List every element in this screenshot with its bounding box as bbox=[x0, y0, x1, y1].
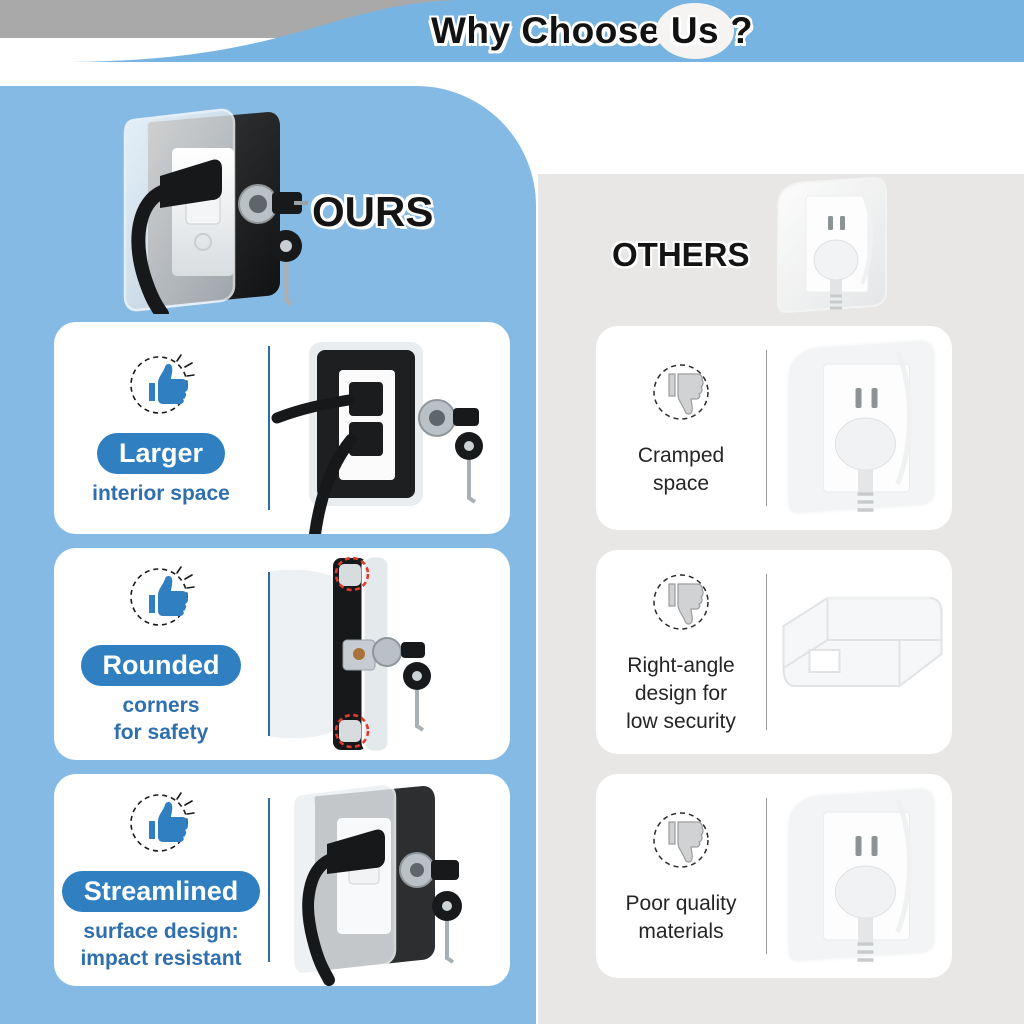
thumbs-up-icon bbox=[125, 561, 197, 633]
ours-feature-card[interactable]: Larger interior space bbox=[54, 322, 510, 534]
ours-feature-pill: Streamlined bbox=[62, 871, 261, 912]
ours-label: OURS bbox=[312, 188, 433, 236]
ours-feature-image bbox=[270, 548, 510, 760]
others-feature-line: low security bbox=[626, 708, 736, 736]
others-feature-image bbox=[767, 550, 952, 754]
page-title: Why Choose Us ? bbox=[0, 0, 1024, 62]
page-title-part1: Why Choose bbox=[431, 10, 671, 52]
others-feature-line: materials bbox=[638, 918, 723, 946]
ours-feature-text: Streamlined surface design: impact resis… bbox=[54, 774, 268, 986]
ours-feature-text: Rounded corners for safety bbox=[54, 548, 268, 760]
others-feature-line: Cramped bbox=[638, 442, 724, 470]
thumbs-down-icon bbox=[645, 358, 717, 430]
ours-feature-subline: for safety bbox=[114, 720, 209, 747]
others-feature-image bbox=[767, 774, 952, 978]
ours-feature-pill: Rounded bbox=[81, 645, 242, 686]
others-feature-card[interactable]: Cramped space bbox=[596, 326, 952, 530]
ours-feature-pill: Larger bbox=[97, 433, 225, 474]
thumbs-up-icon bbox=[125, 787, 197, 859]
others-feature-text: Right-angle design for low security bbox=[596, 550, 766, 754]
ours-feature-image bbox=[270, 774, 510, 986]
others-feature-line: design for bbox=[635, 680, 727, 708]
page-title-highlight: Us bbox=[671, 10, 719, 51]
thumbs-up-icon bbox=[125, 349, 197, 421]
ours-feature-subline: surface design: bbox=[83, 919, 238, 946]
others-feature-text: Cramped space bbox=[596, 326, 766, 530]
others-label: OTHERS bbox=[612, 236, 750, 274]
page-title-highlight-wrap: Us bbox=[671, 10, 719, 52]
thumbs-down-icon bbox=[645, 806, 717, 878]
thumbs-down-icon bbox=[645, 568, 717, 640]
ours-feature-text: Larger interior space bbox=[54, 322, 268, 534]
others-feature-line: Poor quality bbox=[626, 890, 737, 918]
ours-hero-image bbox=[100, 96, 315, 314]
others-feature-line: space bbox=[653, 470, 709, 498]
others-feature-card[interactable]: Poor quality materials bbox=[596, 774, 952, 978]
others-feature-text: Poor quality materials bbox=[596, 774, 766, 978]
ours-feature-subline: impact resistant bbox=[80, 946, 241, 973]
ours-feature-card[interactable]: Rounded corners for safety bbox=[54, 548, 510, 760]
others-feature-image bbox=[767, 326, 952, 530]
others-feature-card[interactable]: Right-angle design for low security bbox=[596, 550, 952, 754]
others-hero-image bbox=[770, 172, 890, 327]
ours-feature-card[interactable]: Streamlined surface design: impact resis… bbox=[54, 774, 510, 986]
ours-feature-subline: corners bbox=[122, 693, 199, 720]
ours-feature-subline: interior space bbox=[92, 481, 230, 508]
ours-feature-image bbox=[270, 322, 510, 534]
others-feature-line: Right-angle bbox=[627, 652, 734, 680]
